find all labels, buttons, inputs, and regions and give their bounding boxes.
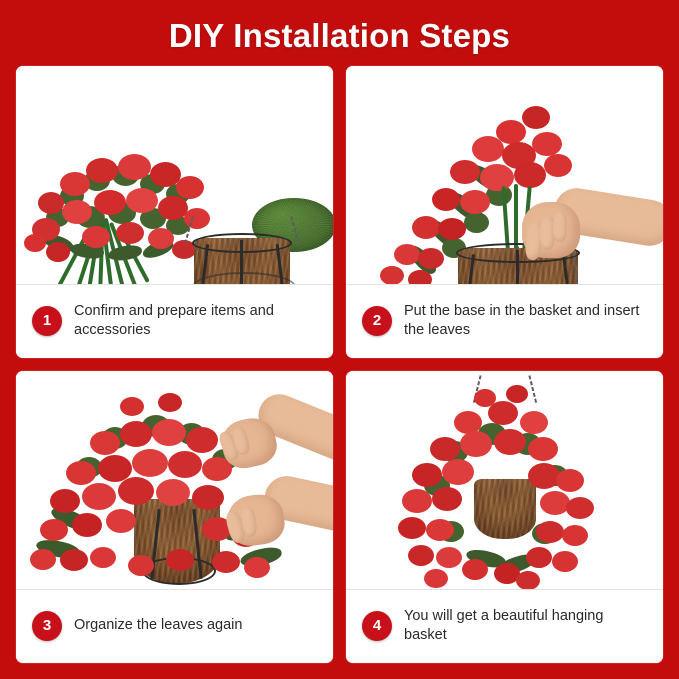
step-2-caption: 2 Put the base in the basket and insert … bbox=[346, 285, 663, 358]
insert-stem-illustration bbox=[346, 66, 663, 284]
steps-grid: 1 Confirm and prepare items and accessor… bbox=[16, 66, 663, 663]
step-number-badge-4: 4 bbox=[362, 611, 392, 641]
step-caption-text-4: You will get a beautiful hanging basket bbox=[404, 607, 644, 645]
step-caption-text-1: Confirm and prepare items and accessorie… bbox=[74, 302, 314, 340]
step-2-photo bbox=[346, 66, 663, 285]
step-card-4[interactable]: 4 You will get a beautiful hanging baske… bbox=[346, 371, 663, 663]
flower-bunches-illustration bbox=[16, 66, 333, 284]
step-number-badge-1: 1 bbox=[32, 306, 62, 336]
step-3-photo bbox=[16, 371, 333, 590]
step-1-photo bbox=[16, 66, 333, 285]
step-caption-text-2: Put the base in the basket and insert th… bbox=[404, 302, 644, 340]
step-1-caption: 1 Confirm and prepare items and accessor… bbox=[16, 285, 333, 358]
step-card-3[interactable]: 3 Organize the leaves again bbox=[16, 371, 333, 663]
step-4-caption: 4 You will get a beautiful hanging baske… bbox=[346, 590, 663, 663]
page-title: DIY Installation Steps bbox=[0, 16, 679, 56]
step-caption-text-3: Organize the leaves again bbox=[74, 616, 242, 635]
step-3-caption: 3 Organize the leaves again bbox=[16, 590, 333, 663]
step-card-2[interactable]: 2 Put the base in the basket and insert … bbox=[346, 66, 663, 358]
step-number-badge-3: 3 bbox=[32, 611, 62, 641]
diy-installation-poster: DIY Installation Steps bbox=[0, 0, 679, 679]
arrange-leaves-illustration bbox=[16, 371, 333, 589]
hanging-basket bbox=[194, 238, 290, 285]
finished-basket-illustration bbox=[346, 371, 663, 589]
step-4-photo bbox=[346, 371, 663, 590]
step-number-badge-2: 2 bbox=[362, 306, 392, 336]
step-card-1[interactable]: 1 Confirm and prepare items and accessor… bbox=[16, 66, 333, 358]
